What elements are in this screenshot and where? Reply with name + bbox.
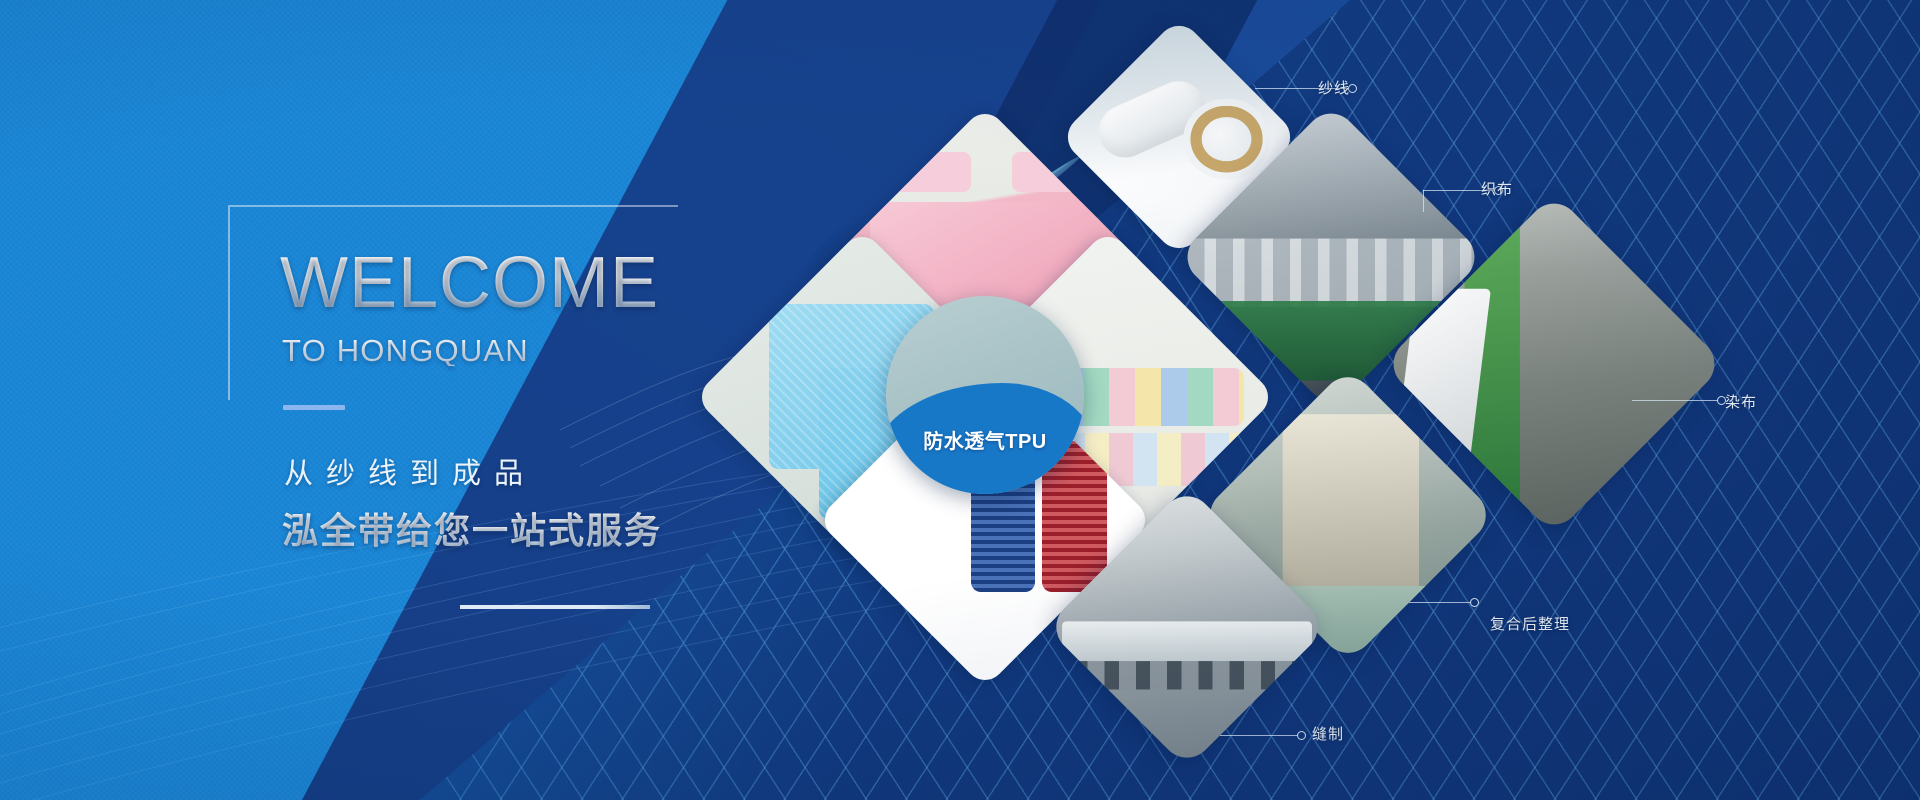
process-label-yarn: 纱线 [1318,77,1350,98]
process-label-lamination: 复合后整理 [1490,613,1570,634]
center-feature-badge[interactable]: 防水透气TPU [886,296,1084,494]
process-label-dyeing: 染布 [1725,391,1757,412]
leader-line-lamination [1409,578,1569,618]
leader-line-sewing [1220,700,1390,750]
center-badge-label: 防水透气TPU [886,425,1084,454]
tagline: 从纱线到成品 [284,450,536,492]
slogan: 泓全带给您一站式服务 [282,502,662,554]
process-label-sewing: 缝制 [1312,723,1344,744]
hero-banner: WELCOME TO HONGQUAN 从纱线到成品 泓全带给您一站式服务 防水… [0,0,1920,800]
accent-dash [283,405,345,410]
page-title: WELCOME [280,247,659,319]
bottom-divider-rule [460,605,650,609]
page-subtitle: TO HONGQUAN [282,335,529,366]
process-label-weaving: 织布 [1481,178,1513,199]
leader-line-dyeing [1632,378,1792,418]
